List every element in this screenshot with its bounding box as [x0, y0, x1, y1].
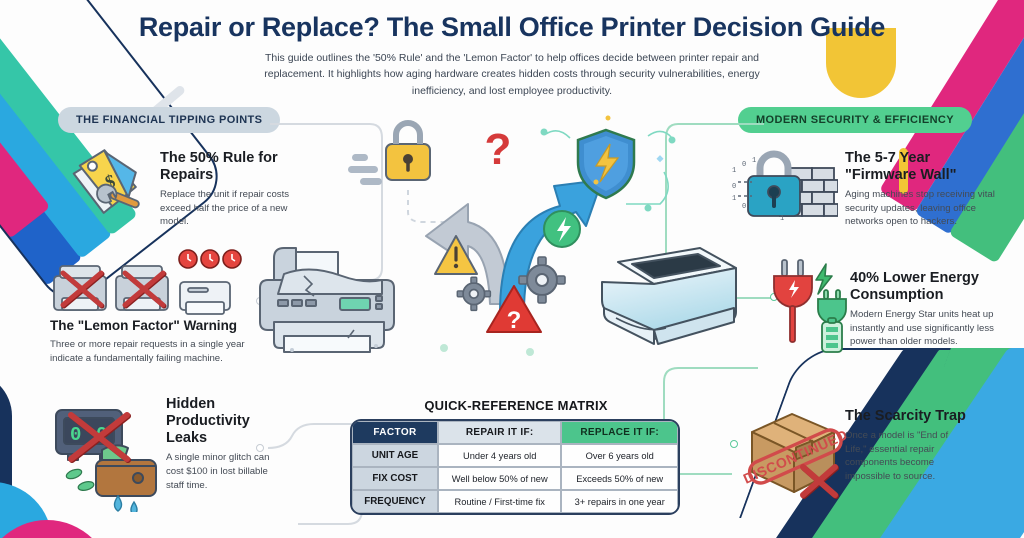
matrix-title: QUICK-REFERENCE MATRIX: [358, 398, 674, 413]
right-item-2-body: Modern Energy Star units heat up instant…: [850, 308, 998, 349]
matrix-repair-value: Routine / First-time fix: [438, 490, 561, 513]
red-question-mark-icon: ?: [485, 125, 512, 174]
matrix-col-factor: FACTOR: [352, 421, 438, 444]
matrix-header-row: FACTOR REPAIR IT IF: REPLACE IT IF:: [352, 421, 678, 444]
left-item-2-body: Three or more repair requests in a singl…: [50, 338, 264, 365]
matrix-col-replace: REPLACE IT IF:: [561, 421, 678, 444]
right-item-3: The Scarcity Trap Once a model is "End o…: [845, 408, 971, 484]
connector-node-6: [730, 440, 738, 448]
matrix-replace-value: Exceeds 50% of new: [561, 467, 678, 490]
broken-printers-alarm-icon: [48, 248, 248, 326]
right-item-3-body: Once a model is "End of Life," essential…: [845, 429, 971, 483]
matrix-col-repair: REPAIR IT IF:: [438, 421, 561, 444]
left-item-1-heading: The 50% Rule for Repairs: [160, 150, 292, 184]
table-row: FREQUENCY Routine / First-time fix 3+ re…: [352, 490, 678, 513]
right-item-3-heading: The Scarcity Trap: [845, 408, 971, 425]
svg-text:0: 0: [732, 183, 736, 191]
right-item-1-body: Aging machines stop receiving vital secu…: [845, 188, 995, 229]
svg-text:0: 0: [742, 203, 746, 211]
left-item-2-heading: The "Lemon Factor" Warning: [50, 318, 264, 334]
section-pill-financial: THE FINANCIAL TIPPING POINTS: [58, 107, 280, 133]
svg-text:1: 1: [780, 215, 784, 223]
infographic-canvas: Repair or Replace? The Small Office Prin…: [0, 0, 1024, 538]
discontinued-box-icon: DISCONTINUED: [740, 404, 848, 504]
right-item-2: 40% Lower Energy Consumption Modern Ener…: [850, 270, 998, 349]
left-item-3: Hidden Productivity Leaks A single minor…: [166, 396, 278, 492]
table-row: FIX COST Well below 50% of new Exceeds 5…: [352, 467, 678, 490]
svg-text:?: ?: [485, 125, 512, 174]
clock-wallet-leak-icon: 0 0: [52, 404, 164, 512]
gear-icon: [457, 277, 490, 310]
right-item-1: The 5-7 Year "Firmware Wall" Aging machi…: [845, 150, 995, 229]
quick-reference-matrix: FACTOR REPAIR IT IF: REPLACE IT IF: UNIT…: [352, 421, 678, 513]
svg-text:0: 0: [70, 424, 81, 446]
svg-text:1: 1: [732, 195, 736, 203]
old-printer-icon: [258, 218, 402, 358]
power-plug-battery-icon: [768, 256, 858, 356]
padlock-icon: [348, 123, 430, 185]
left-item-3-heading: Hidden Productivity Leaks: [166, 396, 278, 447]
green-bolt-icon: [544, 211, 580, 247]
matrix-row-label: FREQUENCY: [352, 490, 438, 513]
matrix-repair-value: Under 4 years old: [438, 444, 561, 467]
right-item-1-heading: The 5-7 Year "Firmware Wall": [845, 150, 995, 184]
table-row: UNIT AGE Under 4 years old Over 6 years …: [352, 444, 678, 467]
matrix-row-label: FIX COST: [352, 467, 438, 490]
page-subtitle: This guide outlines the '50% Rule' and t…: [252, 50, 772, 99]
matrix-replace-value: 3+ repairs in one year: [561, 490, 678, 513]
svg-text:1: 1: [732, 167, 736, 175]
padlock-brick-wall-icon: 100 101 1: [730, 142, 838, 226]
left-item-3-body: A single minor glitch can cost $100 in l…: [166, 451, 278, 492]
new-printer-icon: [596, 238, 748, 358]
right-item-2-heading: 40% Lower Energy Consumption: [850, 270, 998, 304]
svg-text:1: 1: [752, 157, 756, 165]
matrix-replace-value: Over 6 years old: [561, 444, 678, 467]
matrix-row-label: UNIT AGE: [352, 444, 438, 467]
section-pill-security: MODERN SECURITY & EFFICIENCY: [738, 107, 972, 133]
matrix-repair-value: Well below 50% of new: [438, 467, 561, 490]
page-title: Repair or Replace? The Small Office Prin…: [0, 12, 1024, 43]
svg-text:?: ?: [507, 307, 522, 334]
left-item-2: The "Lemon Factor" Warning Three or more…: [50, 318, 264, 365]
svg-text:0: 0: [742, 161, 746, 169]
price-tag-wrench-icon: $: [62, 140, 158, 226]
